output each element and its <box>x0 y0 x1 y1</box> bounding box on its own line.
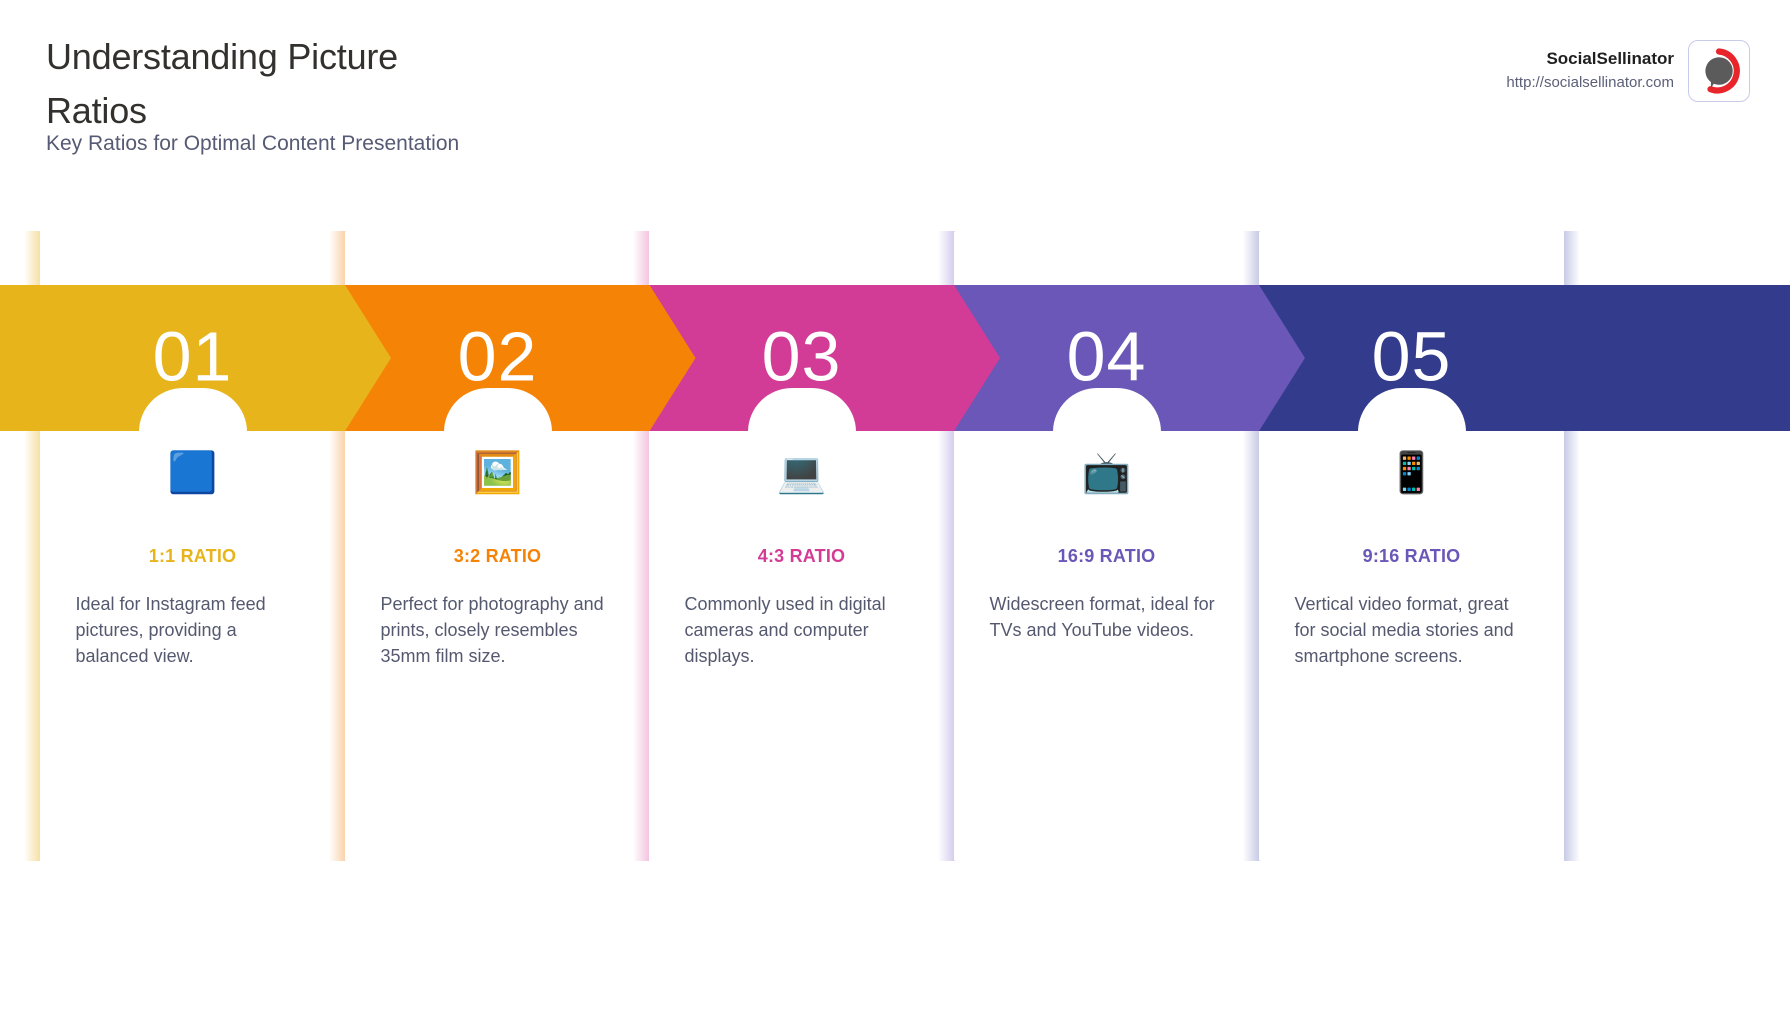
television-icon: 📺 <box>1082 447 1132 499</box>
ratio-card[interactable]: 🟦1:1 RATIOIdeal for Instagram feed pictu… <box>40 231 345 861</box>
card-description: Widescreen format, ideal for TVs and You… <box>990 591 1224 643</box>
page-header: Understanding Picture Ratios Key Ratios … <box>0 0 1790 200</box>
card-left-glow <box>24 231 40 861</box>
card-ratio-label: 4:3 RATIO <box>758 546 845 567</box>
brand-url[interactable]: http://socialsellinator.com <box>1506 73 1674 93</box>
ratio-card[interactable]: 🖼️3:2 RATIOPerfect for photography and p… <box>345 231 650 861</box>
ratio-card[interactable]: 💻4:3 RATIOCommonly used in digital camer… <box>649 231 954 861</box>
page-title: Understanding Picture Ratios <box>46 30 466 138</box>
card-description: Commonly used in digital cameras and com… <box>685 591 919 669</box>
card-ratio-label: 1:1 RATIO <box>149 546 236 567</box>
card-content: 💻4:3 RATIOCommonly used in digital camer… <box>649 231 954 861</box>
card-ratio-label: 16:9 RATIO <box>1058 546 1156 567</box>
card-description: Perfect for photography and prints, clos… <box>381 591 615 669</box>
blue-square-icon: 🟦 <box>168 447 218 499</box>
brand-name: SocialSellinator <box>1506 48 1674 71</box>
speech-bubble-ring-logo-icon <box>1696 48 1742 94</box>
cards-row: 🟦1:1 RATIOIdeal for Instagram feed pictu… <box>0 231 1790 861</box>
card-right-glow <box>1564 231 1580 861</box>
infographic-page: Understanding Picture Ratios Key Ratios … <box>0 0 1790 1024</box>
card-ratio-label: 3:2 RATIO <box>454 546 541 567</box>
brand-text: SocialSellinator http://socialsellinator… <box>1506 48 1674 93</box>
card-description: Ideal for Instagram feed pictures, provi… <box>76 591 310 669</box>
card-ratio-label: 9:16 RATIO <box>1363 546 1461 567</box>
card-content: 🟦1:1 RATIOIdeal for Instagram feed pictu… <box>40 231 345 861</box>
card-description: Vertical video format, great for social … <box>1295 591 1529 669</box>
page-subtitle: Key Ratios for Optimal Content Presentat… <box>46 132 459 156</box>
laptop-icon: 💻 <box>777 447 827 499</box>
ratio-card[interactable]: 📱9:16 RATIOVertical video format, great … <box>1259 231 1564 861</box>
ratio-card[interactable]: 📺16:9 RATIOWidescreen format, ideal for … <box>954 231 1259 861</box>
brand-logo <box>1688 40 1750 102</box>
framed-picture-icon: 🖼️ <box>473 447 523 499</box>
mobile-phone-icon: 📱 <box>1387 447 1437 499</box>
card-content: 📺16:9 RATIOWidescreen format, ideal for … <box>954 231 1259 861</box>
brand-block: SocialSellinator http://socialsellinator… <box>1506 40 1750 102</box>
card-content: 📱9:16 RATIOVertical video format, great … <box>1259 231 1564 861</box>
card-content: 🖼️3:2 RATIOPerfect for photography and p… <box>345 231 650 861</box>
